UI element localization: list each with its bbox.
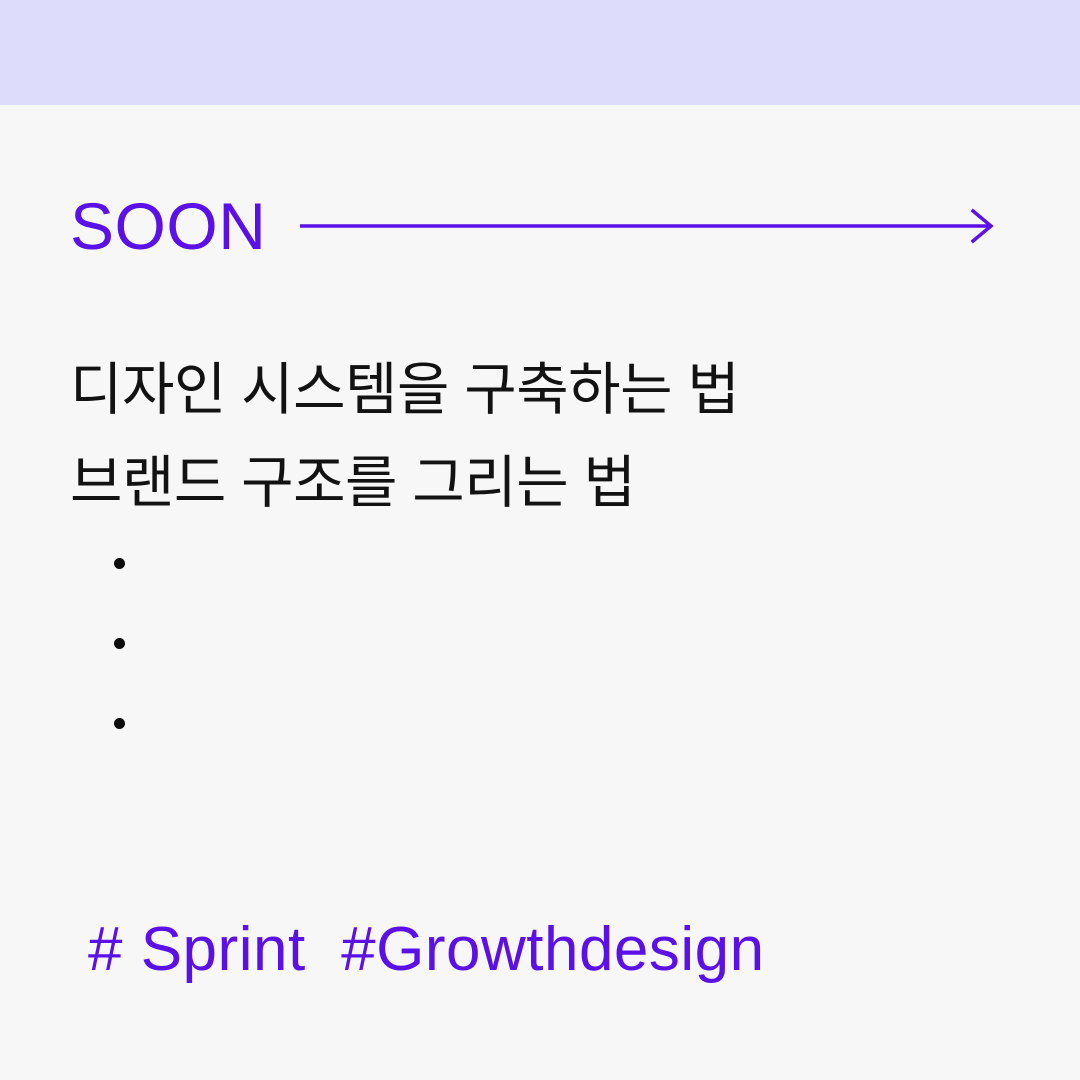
bullet-list xyxy=(70,538,570,778)
headline-line-2: 브랜드 구조를 그리는 법 xyxy=(70,437,1010,530)
hashtag-row[interactable]: # Sprint #Growthdesign xyxy=(88,908,765,992)
arrow-right-icon xyxy=(300,204,1000,248)
headline-line-1: 디자인 시스템을 구축하는 법 xyxy=(70,344,1010,437)
list-item xyxy=(70,698,570,778)
top-accent-band xyxy=(0,0,1080,105)
soon-announcement-card: SOON 디자인 시스템을 구축하는 법 브랜드 구조를 그리는 법 # Spr… xyxy=(0,0,1080,1080)
headline-block: 디자인 시스템을 구축하는 법 브랜드 구조를 그리는 법 xyxy=(70,344,1010,530)
eyebrow-row: SOON xyxy=(70,186,1000,266)
list-item xyxy=(70,538,570,618)
eyebrow-label: SOON xyxy=(70,186,266,266)
list-item xyxy=(70,618,570,698)
